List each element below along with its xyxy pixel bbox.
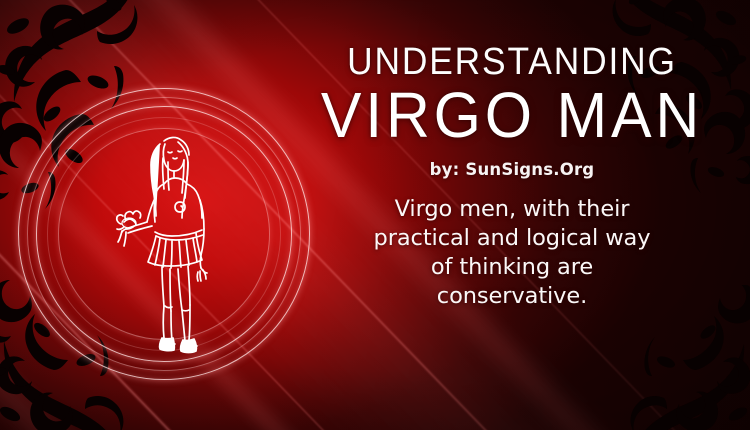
description-line: conservative. [288, 282, 736, 311]
description-line: Virgo men, with their [288, 195, 736, 224]
page-title: VIRGO MAN [299, 83, 725, 148]
byline-credit: by: SunSigns.Org [288, 160, 736, 179]
banner-image: UNDERSTANDING VIRGO MAN by: SunSigns.Org… [0, 0, 750, 430]
text-block: UNDERSTANDING VIRGO MAN by: SunSigns.Org… [288, 44, 736, 312]
kicker-text: UNDERSTANDING [304, 44, 721, 81]
description-text: Virgo men, with their practical and logi… [288, 195, 736, 312]
description-line: of thinking are [288, 253, 736, 282]
virgo-maiden-icon [112, 128, 232, 363]
description-line: practical and logical way [288, 224, 736, 253]
